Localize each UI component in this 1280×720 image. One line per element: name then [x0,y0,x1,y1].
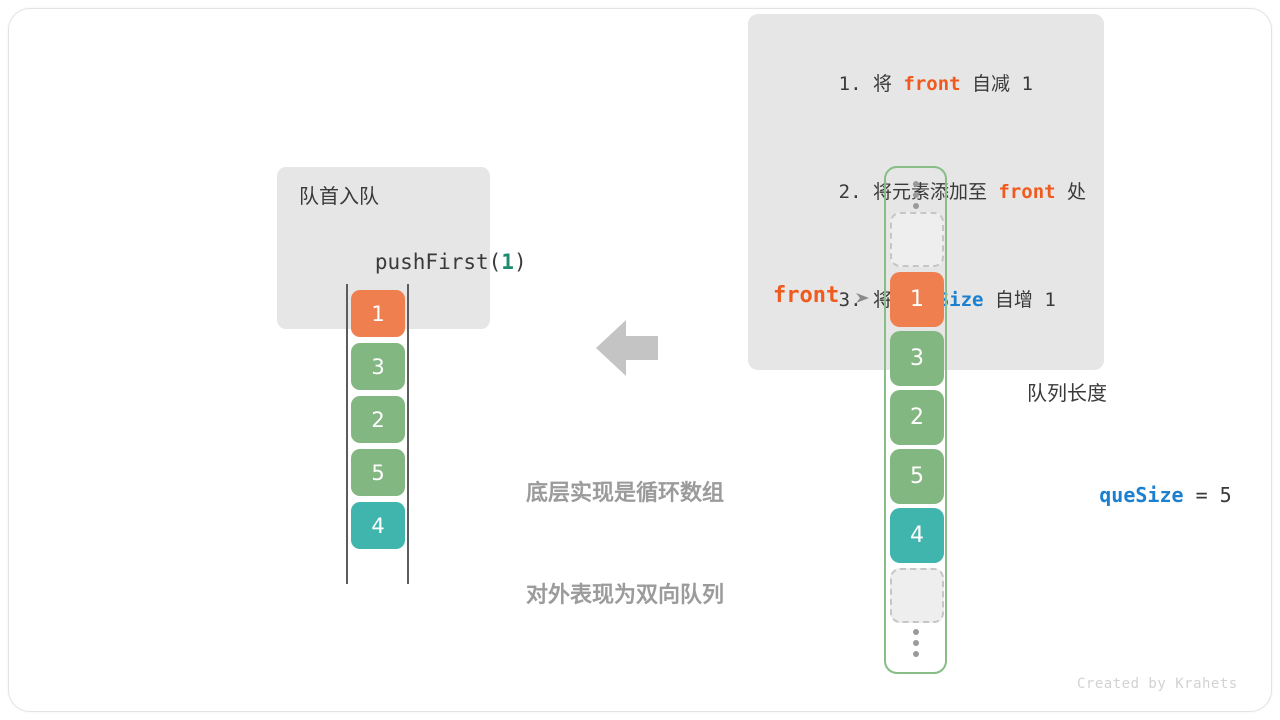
array-cell-value: 4 [910,523,924,548]
keyword-front: front [903,73,960,95]
array-cell: 2 [890,390,944,445]
queue-size-note: 队列长度 queSize = 5 [1027,340,1232,581]
array-cell: 3 [351,343,405,390]
step-line: 1. 将 front 自减 1 [770,30,1084,138]
array-cell: 3 [890,331,944,386]
array-cell-value: 5 [371,461,384,485]
step-prefix: 1. 将 [839,73,904,95]
front-pointer-label: front [773,283,839,308]
caption-line-1: 底层实现是循环数组 [503,477,747,511]
keyword-quesize: queSize [1099,483,1183,507]
array-cell: 5 [890,449,944,504]
array-cell-empty [890,568,944,623]
queue-size-expression: queSize = 5 [1027,447,1232,543]
array-cell-value: 4 [371,514,384,538]
array-cell: 1 [351,290,405,337]
step-suffix: 处 [1056,181,1086,203]
array-rail-right [407,284,409,584]
array-cell: 1 [890,272,944,327]
arrow-right-small-icon [855,290,873,306]
linear-array-view: 1 3 2 5 4 [346,284,409,584]
diagram-canvas: 1. 将 front 自减 1 2. 将元素添加至 front 处 3. 将 q… [0,0,1280,720]
step-suffix: 自减 1 [961,73,1033,95]
array-cell-value: 3 [910,346,924,371]
diagram-caption: 底层实现是循环数组 对外表现为双向队列 [503,409,747,681]
queue-size-equals: = [1184,483,1220,507]
array-cell: 4 [890,508,944,563]
step-suffix: 自增 1 [983,289,1055,311]
ellipsis-icon [886,181,945,209]
operation-title: 队首入队 [299,181,470,211]
keyword-front: front [998,181,1055,203]
array-cell: 2 [351,396,405,443]
array-cell-empty [890,212,944,267]
arrow-left-large-icon [596,318,658,378]
operation-code-suffix: ) [514,250,527,274]
array-cell-value: 5 [910,464,924,489]
array-cell-value: 1 [910,287,924,312]
queue-size-title: 队列长度 [1027,378,1232,409]
array-cell-value: 3 [371,355,384,379]
array-cell: 4 [351,502,405,549]
array-cell-value: 2 [910,405,924,430]
operation-code-arg: 1 [501,250,514,274]
array-cell-value: 1 [371,302,384,326]
caption-line-2: 对外表现为双向队列 [503,579,747,613]
array-cell: 5 [351,449,405,496]
operation-code-prefix: pushFirst( [375,250,501,274]
array-cell-value: 2 [371,408,384,432]
queue-size-value: 5 [1220,483,1232,507]
array-rail-left [346,284,348,584]
ellipsis-icon [886,629,945,657]
circular-array-view: 1 3 2 5 4 [884,166,947,674]
credit-text: Created by Krahets [1077,676,1238,692]
